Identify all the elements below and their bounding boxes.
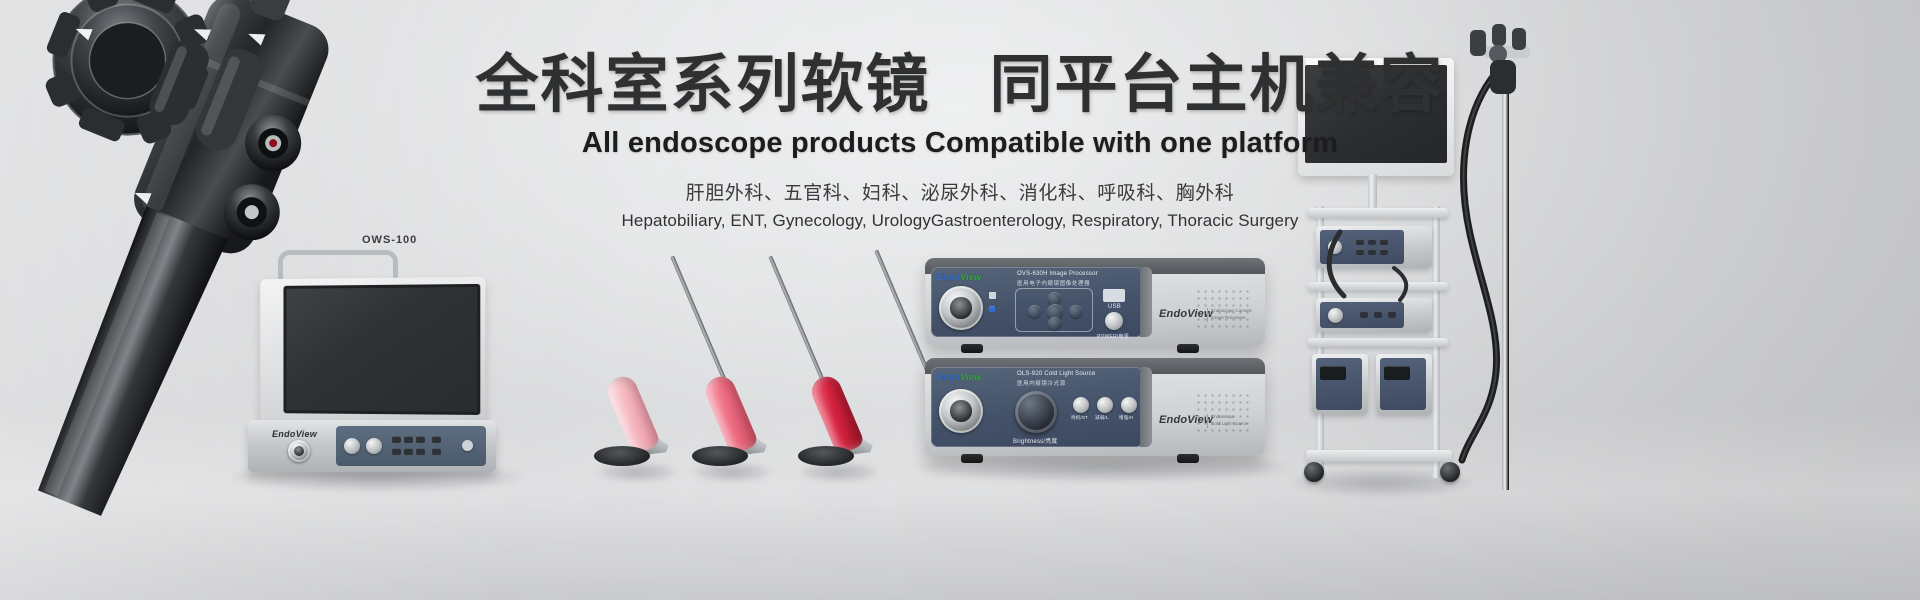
- headline-chinese-part2: 同平台主机兼容: [990, 50, 1445, 120]
- cold-light-source-unit: EndoView OLS-920 Cold Light Source 医用内窥镜…: [925, 358, 1265, 456]
- light-guide-socket-hole: [950, 400, 971, 421]
- subtitle-block: 肝胆外科、五官科、妇科、泌尿外科、消化科、呼吸科、胸外科 Hepatobilia…: [0, 178, 1920, 231]
- laparoscope-3-handle: [807, 372, 865, 456]
- usb-label: USB: [1108, 304, 1121, 310]
- increase-button[interactable]: [1121, 397, 1137, 413]
- laparoscope-3-base: [798, 446, 854, 466]
- cart-shelf-3: [1308, 338, 1448, 347]
- image-processor-latch-icon: [989, 292, 996, 299]
- light-source-side-brand: EndoView: [1159, 414, 1213, 426]
- laparoscope-2-base: [692, 446, 748, 466]
- console-button-5[interactable]: [404, 448, 413, 455]
- image-processor-model-cn: 医用电子内窥镜图像处理器: [1017, 279, 1090, 287]
- brightness-label: Brightness/亮度: [1013, 436, 1058, 445]
- console-button-3[interactable]: [416, 436, 425, 443]
- cart-camera-btn-3[interactable]: [1380, 239, 1388, 245]
- image-processor-keypad[interactable]: [1015, 288, 1093, 332]
- cart-light-btn-3[interactable]: [1388, 311, 1396, 318]
- console-button-8[interactable]: [432, 448, 441, 455]
- standby-label: 待机/ST: [1071, 415, 1088, 421]
- cart-shelf-2: [1308, 282, 1448, 291]
- cart-camera-btn-2[interactable]: [1368, 239, 1376, 245]
- headline-english: All endoscope products Compatible with o…: [0, 127, 1920, 160]
- power-label: POWER/电源: [1097, 333, 1129, 340]
- headline-chinese: 全科室系列软镜 同平台主机兼容: [0, 52, 1920, 118]
- laparoscope-crimson: [790, 250, 910, 486]
- cart-device-insufflator: [1312, 354, 1368, 414]
- cart-wheel-left: [1304, 462, 1324, 482]
- cart-insufflator-display: [1320, 366, 1346, 380]
- image-processor-model-en: OVS-630H Image Processor: [1017, 271, 1098, 277]
- cart-camera-btn-1[interactable]: [1356, 239, 1364, 245]
- laparoscope-1-handle: [603, 372, 661, 456]
- image-processor-foot-right: [1177, 344, 1199, 353]
- image-processor-side-subtitle: Endoscope Camera Image Processor: [1207, 308, 1252, 322]
- cart-shelf-bottom: [1306, 450, 1452, 462]
- console-button-4[interactable]: [392, 448, 401, 455]
- keypad-right-button[interactable]: [1069, 305, 1082, 318]
- light-source-model-cn: 医用内窥镜冷光源: [1017, 379, 1066, 387]
- increase-label: 增强/H: [1119, 415, 1133, 421]
- subtitle-english: Hepatobiliary, ENT, Gynecology, UrologyG…: [0, 211, 1920, 231]
- light-source-front-panel: EndoView OLS-920 Cold Light Source 医用内窥镜…: [931, 367, 1143, 447]
- laparoscope-rose: [686, 256, 806, 486]
- image-processor-front-panel: EndoView OVS-630H Image Processor 医用电子内窥…: [931, 267, 1143, 337]
- headline-block: 全科室系列软镜 同平台主机兼容 All endoscope products C…: [0, 52, 1920, 160]
- image-processor-brand: EndoView: [937, 272, 981, 282]
- console-button-1[interactable]: [392, 436, 401, 443]
- light-source-foot-right: [1177, 454, 1199, 463]
- image-processor-side-brand: EndoView: [1159, 308, 1213, 320]
- brightness-dial[interactable]: [1015, 391, 1057, 433]
- headline-chinese-part1: 全科室系列软镜: [475, 50, 930, 120]
- cart-camera-btn-5[interactable]: [1368, 249, 1376, 255]
- image-processor-socket-hole: [950, 297, 971, 318]
- standby-button[interactable]: [1073, 397, 1089, 413]
- cart-pump-display: [1384, 366, 1410, 380]
- light-source-brand: EndoView: [937, 372, 981, 382]
- product-banner: 全科室系列软镜 同平台主机兼容 All endoscope products C…: [0, 0, 1920, 600]
- cart-light-btn-2[interactable]: [1374, 311, 1382, 318]
- light-source-side-subtitle: Endoscope Cold Light Source: [1207, 414, 1248, 428]
- light-guide-socket[interactable]: [939, 389, 983, 433]
- cart-light-knob[interactable]: [1328, 308, 1343, 323]
- image-processor-indicator-led: [989, 306, 995, 312]
- cart-light-btn-1[interactable]: [1360, 311, 1368, 318]
- console-button-2[interactable]: [404, 436, 413, 443]
- decrease-label: 减弱/L: [1095, 415, 1109, 421]
- laparoscope-2-handle: [701, 372, 759, 456]
- cart-device-light: [1316, 298, 1432, 332]
- laparoscope-1-base: [594, 446, 650, 466]
- usb-port-icon[interactable]: [1103, 289, 1125, 302]
- image-processor-foot-left: [961, 344, 983, 353]
- console-button-6[interactable]: [416, 448, 425, 455]
- light-source-foot-left: [961, 454, 983, 463]
- light-source-model-en: OLS-920 Cold Light Source: [1017, 371, 1095, 377]
- console-button-7[interactable]: [432, 436, 441, 443]
- cart-camera-btn-4[interactable]: [1356, 249, 1364, 255]
- cart-camera-knob[interactable]: [1328, 240, 1342, 254]
- cart-device-camera: [1316, 226, 1432, 268]
- decrease-button[interactable]: [1097, 397, 1113, 413]
- keypad-left-button[interactable]: [1028, 305, 1041, 318]
- image-processor-unit: EndoView OVS-630H Image Processor 医用电子内窥…: [925, 258, 1265, 346]
- cart-device-pump: [1376, 354, 1432, 414]
- cart-camera-btn-6[interactable]: [1380, 249, 1388, 255]
- image-processor-scope-socket[interactable]: [939, 286, 983, 330]
- subtitle-chinese: 肝胆外科、五官科、妇科、泌尿外科、消化科、呼吸科、胸外科: [0, 178, 1920, 205]
- power-button[interactable]: [1105, 312, 1123, 330]
- console-indicator: [462, 440, 473, 451]
- keypad-down-button[interactable]: [1048, 317, 1061, 330]
